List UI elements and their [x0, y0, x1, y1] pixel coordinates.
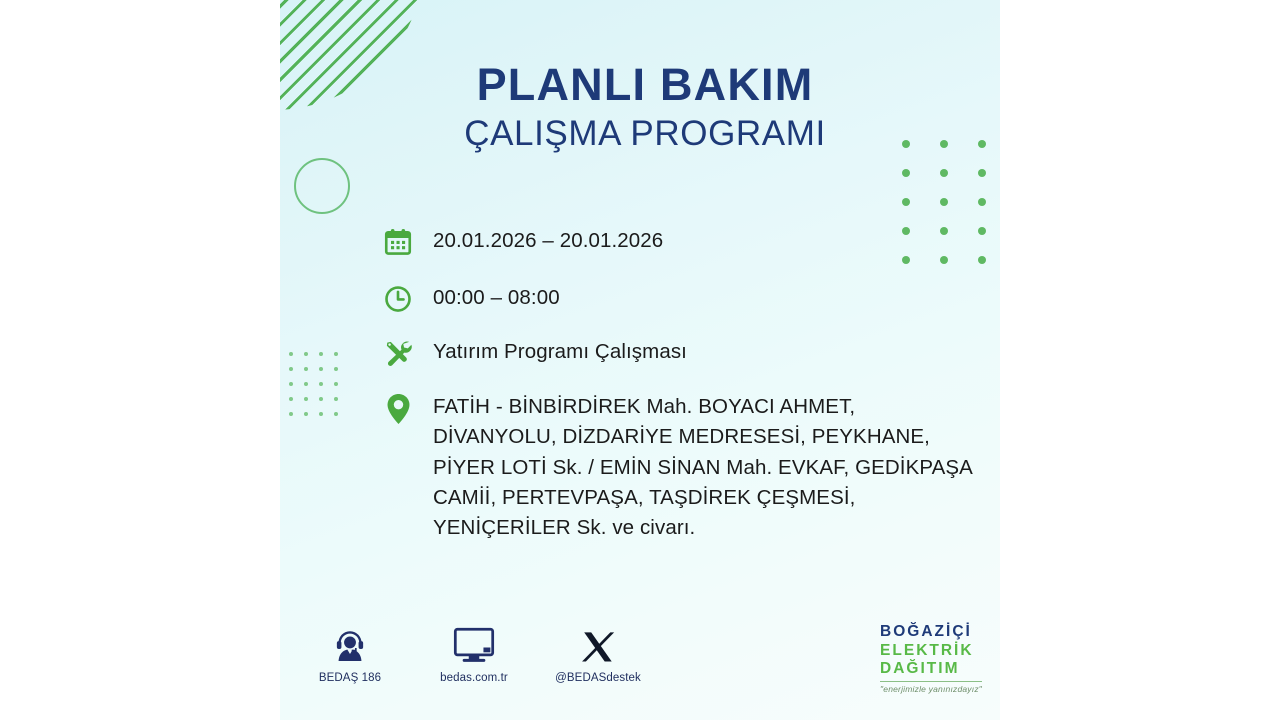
clock-icon: [378, 283, 418, 314]
time-range-text: 00:00 – 08:00: [433, 283, 560, 313]
contact-label-phone: BEDAŞ 186: [306, 672, 394, 684]
logo-divider: [880, 681, 982, 682]
poster-footer: BEDAŞ 186 bedas.com.tr: [280, 622, 1000, 702]
contact-item-social[interactable]: @BEDASdestek: [554, 622, 642, 684]
x-twitter-icon: [554, 622, 642, 664]
page-subtitle: ÇALIŞMA PROGRAMI: [290, 116, 1000, 151]
dot-grid-left-decoration: [289, 352, 349, 427]
contact-label-website: bedas.com.tr: [430, 672, 518, 684]
info-row-date: 20.01.2026 – 20.01.2026: [378, 226, 978, 257]
contact-item-website[interactable]: bedas.com.tr: [430, 622, 518, 684]
location-text: FATİH - BİNBİRDİREK Mah. BOYACI AHMET, D…: [433, 392, 978, 544]
logo-line-elektrik: ELEKTRİK: [880, 643, 982, 659]
calendar-icon: [378, 226, 418, 257]
date-range-text: 20.01.2026 – 20.01.2026: [433, 226, 663, 256]
contact-item-phone[interactable]: BEDAŞ 186: [306, 622, 394, 684]
map-pin-icon: [378, 392, 418, 425]
work-type-text: Yatırım Programı Çalışması: [433, 337, 687, 367]
tools-icon: [378, 337, 418, 369]
logo-line-bogazici: BOĞAZİÇİ: [880, 624, 982, 640]
info-list: 20.01.2026 – 20.01.2026 00:00 – 08:00: [378, 226, 978, 568]
poster-root: PLANLI BAKIM ÇALIŞMA PROGRAMI: [0, 0, 1280, 720]
contact-list: BEDAŞ 186 bedas.com.tr: [306, 622, 642, 684]
contact-label-social: @BEDASdestek: [554, 672, 642, 684]
logo-tagline: "enerjimizle yanınızdayız": [880, 685, 982, 694]
info-row-time: 00:00 – 08:00: [378, 283, 978, 314]
logo-line-dagitim: DAĞITIM: [880, 661, 982, 677]
bedas-logo: BOĞAZİÇİ ELEKTRİK DAĞITIM "enerjimizle y…: [880, 624, 982, 693]
monitor-icon: [430, 622, 518, 664]
info-row-work-type: Yatırım Programı Çalışması: [378, 337, 978, 369]
headset-icon: [306, 622, 394, 664]
announcement-card: PLANLI BAKIM ÇALIŞMA PROGRAMI: [280, 0, 1000, 720]
circle-outline-decoration: [294, 158, 350, 214]
info-row-location: FATİH - BİNBİRDİREK Mah. BOYACI AHMET, D…: [378, 392, 978, 544]
page-title: PLANLI BAKIM: [290, 62, 1000, 107]
poster-header: PLANLI BAKIM ÇALIŞMA PROGRAMI: [280, 62, 1000, 151]
